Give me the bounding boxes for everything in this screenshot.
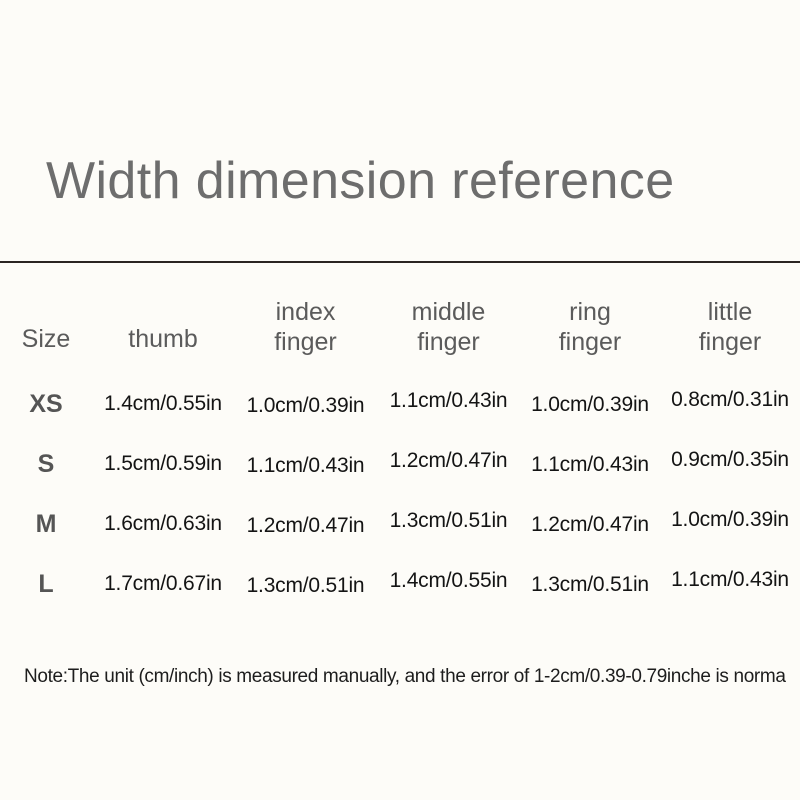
cell-index-finger: 1.3cm/0.51in xyxy=(234,556,377,616)
cell-little-finger: 0.8cm/0.31in xyxy=(660,370,800,430)
column-header-thumb-line1: thumb xyxy=(92,325,234,355)
column-header-middle-line1: middle xyxy=(377,298,520,328)
column-header-index-finger: index finger xyxy=(234,296,377,357)
column-header-middle-finger: middle finger xyxy=(377,296,520,357)
cell-thumb: 1.6cm/0.63in xyxy=(92,494,234,554)
column-header-little-line2: finger xyxy=(660,328,800,358)
row-size-label: M xyxy=(0,494,92,554)
cell-ring-finger: 1.2cm/0.47in xyxy=(520,495,660,555)
column-header-ring-line1: ring xyxy=(520,298,660,328)
cell-thumb: 1.5cm/0.59in xyxy=(92,434,234,494)
size-table: Size thumb index finger middle finger ri… xyxy=(0,296,800,614)
cell-little-finger: 1.1cm/0.43in xyxy=(660,550,800,610)
cell-ring-finger: 1.0cm/0.39in xyxy=(520,375,660,435)
cell-thumb: 1.7cm/0.67in xyxy=(92,554,234,614)
row-size-label: XS xyxy=(0,374,92,434)
cell-index-finger: 1.1cm/0.43in xyxy=(234,436,377,496)
column-header-index-line2: finger xyxy=(234,328,377,358)
column-header-middle-line2: finger xyxy=(377,328,520,358)
cell-middle-finger: 1.2cm/0.47in xyxy=(377,431,520,491)
cell-little-finger: 0.9cm/0.35in xyxy=(660,430,800,490)
column-header-ring-line2: finger xyxy=(520,328,660,358)
column-header-thumb: thumb xyxy=(92,296,234,355)
table-row: S 1.5cm/0.59in 1.1cm/0.43in 1.2cm/0.47in… xyxy=(0,434,800,494)
table-row: M 1.6cm/0.63in 1.2cm/0.47in 1.3cm/0.51in… xyxy=(0,494,800,554)
cell-middle-finger: 1.1cm/0.43in xyxy=(377,371,520,431)
column-header-little-finger: little finger xyxy=(660,296,800,357)
table-row: XS 1.4cm/0.55in 1.0cm/0.39in 1.1cm/0.43i… xyxy=(0,374,800,434)
column-header-size-line1: Size xyxy=(0,325,92,355)
column-header-index-line1: index xyxy=(234,298,377,328)
cell-index-finger: 1.2cm/0.47in xyxy=(234,496,377,556)
size-chart-page: Width dimension reference Size thumb ind… xyxy=(0,0,800,800)
cell-little-finger: 1.0cm/0.39in xyxy=(660,490,800,550)
table-header-row: Size thumb index finger middle finger ri… xyxy=(0,296,800,374)
cell-middle-finger: 1.4cm/0.55in xyxy=(377,551,520,611)
cell-thumb: 1.4cm/0.55in xyxy=(92,374,234,434)
row-size-label: S xyxy=(0,434,92,494)
cell-ring-finger: 1.3cm/0.51in xyxy=(520,555,660,615)
measurement-note: Note:The unit (cm/inch) is measured manu… xyxy=(24,666,800,688)
row-size-label: L xyxy=(0,554,92,614)
cell-middle-finger: 1.3cm/0.51in xyxy=(377,491,520,551)
page-title: Width dimension reference xyxy=(46,152,675,212)
table-row: L 1.7cm/0.67in 1.3cm/0.51in 1.4cm/0.55in… xyxy=(0,554,800,614)
column-header-size: Size xyxy=(0,296,92,355)
column-header-little-line1: little xyxy=(660,298,800,328)
cell-index-finger: 1.0cm/0.39in xyxy=(234,376,377,436)
title-divider xyxy=(0,261,800,263)
column-header-ring-finger: ring finger xyxy=(520,296,660,357)
cell-ring-finger: 1.1cm/0.43in xyxy=(520,435,660,495)
